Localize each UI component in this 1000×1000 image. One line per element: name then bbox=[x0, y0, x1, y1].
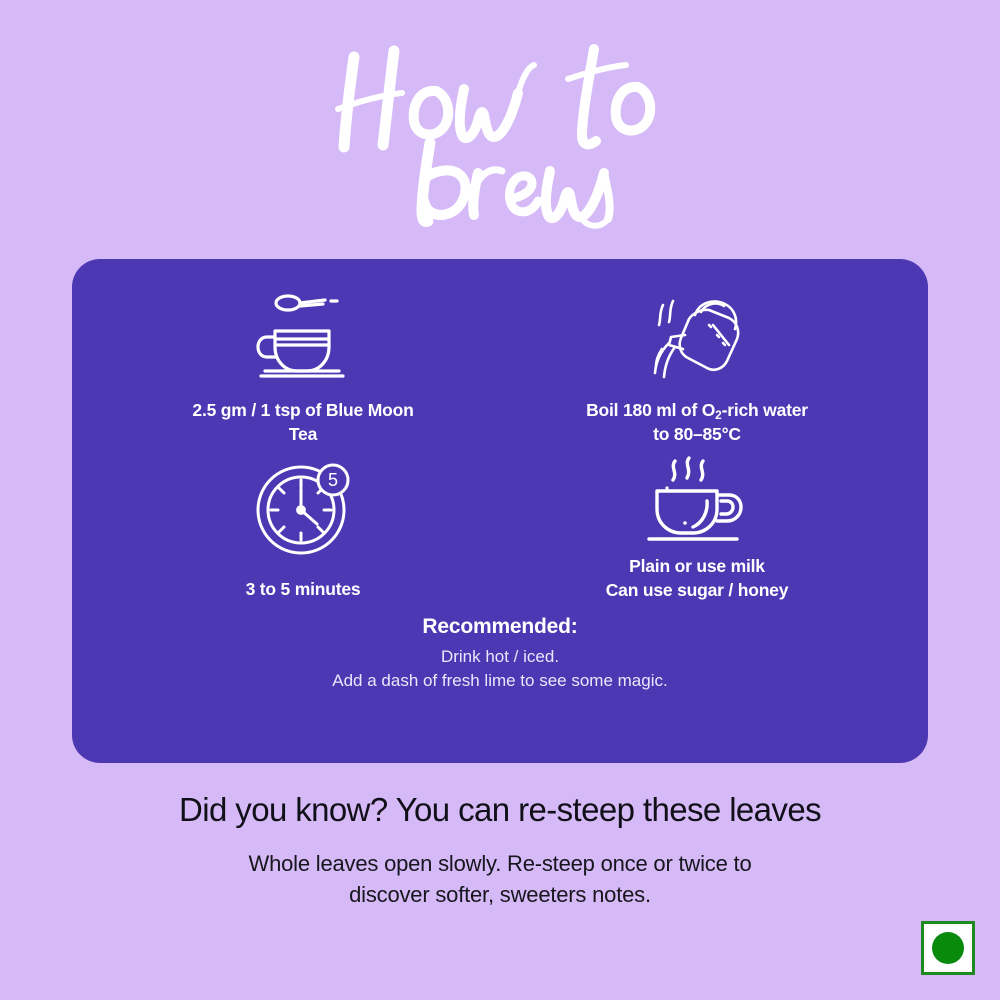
step-label-line2: Can use sugar / honey bbox=[606, 580, 789, 600]
step-label-line1: Plain or use milk bbox=[629, 556, 765, 576]
step-label-line2: to 80–85°C bbox=[653, 424, 741, 444]
how-to-brew-script-title bbox=[320, 39, 680, 229]
did-you-know-subtext: Whole leaves open slowly. Re-steep once … bbox=[0, 848, 1000, 910]
step-serving-style: Plain or use milk Can use sugar / honey bbox=[500, 452, 894, 602]
recommended-lines: Drink hot / iced. Add a dash of fresh li… bbox=[106, 645, 894, 694]
step-label-line2: Tea bbox=[289, 424, 317, 444]
step-water-temperature: Boil 180 ml of O2-rich water to 80–85°C bbox=[500, 285, 894, 446]
subscript-two: 2 bbox=[715, 408, 721, 422]
did-you-know-line2: discover softer, sweeters notes. bbox=[349, 882, 651, 907]
step-label-line1: 2.5 gm / 1 tsp of Blue Moon bbox=[192, 400, 413, 420]
recommended-title: Recommended: bbox=[106, 615, 894, 639]
did-you-know-heading: Did you know? You can re-steep these lea… bbox=[0, 790, 1000, 830]
recommended-line2: Add a dash of fresh lime to see some mag… bbox=[332, 671, 667, 690]
step-label-pre: Boil 180 ml of O bbox=[586, 400, 715, 420]
step-serving-style-label: Plain or use milk Can use sugar / honey bbox=[606, 555, 789, 602]
recommended-section: Recommended: Drink hot / iced. Add a das… bbox=[106, 615, 894, 694]
did-you-know-section: Did you know? You can re-steep these lea… bbox=[0, 790, 1000, 910]
step-water-temperature-label: Boil 180 ml of O2-rich water to 80–85°C bbox=[586, 399, 808, 446]
vegetarian-mark-dot bbox=[932, 932, 964, 964]
recommended-line1: Drink hot / iced. bbox=[441, 647, 559, 666]
did-you-know-line1: Whole leaves open slowly. Re-steep once … bbox=[249, 851, 752, 876]
clock-five-minutes-icon: 5 bbox=[253, 452, 353, 564]
step-tea-quantity-label: 2.5 gm / 1 tsp of Blue Moon Tea bbox=[192, 399, 413, 446]
step-label-post: -rich water bbox=[722, 400, 808, 420]
teacup-with-spoon-icon bbox=[253, 285, 353, 389]
step-tea-quantity: 2.5 gm / 1 tsp of Blue Moon Tea bbox=[106, 285, 500, 446]
pouring-kettle-icon bbox=[643, 285, 751, 389]
brew-steps-grid: 2.5 gm / 1 tsp of Blue Moon Tea bbox=[106, 285, 894, 603]
steaming-cup-icon bbox=[645, 452, 749, 546]
vegetarian-mark bbox=[921, 921, 975, 975]
brew-instructions-card: 2.5 gm / 1 tsp of Blue Moon Tea bbox=[72, 259, 928, 763]
page-title bbox=[0, 34, 1000, 234]
step-steep-time: 5 3 to 5 minutes bbox=[106, 452, 500, 602]
clock-badge-value: 5 bbox=[328, 470, 338, 490]
step-steep-time-label: 3 to 5 minutes bbox=[246, 578, 361, 602]
